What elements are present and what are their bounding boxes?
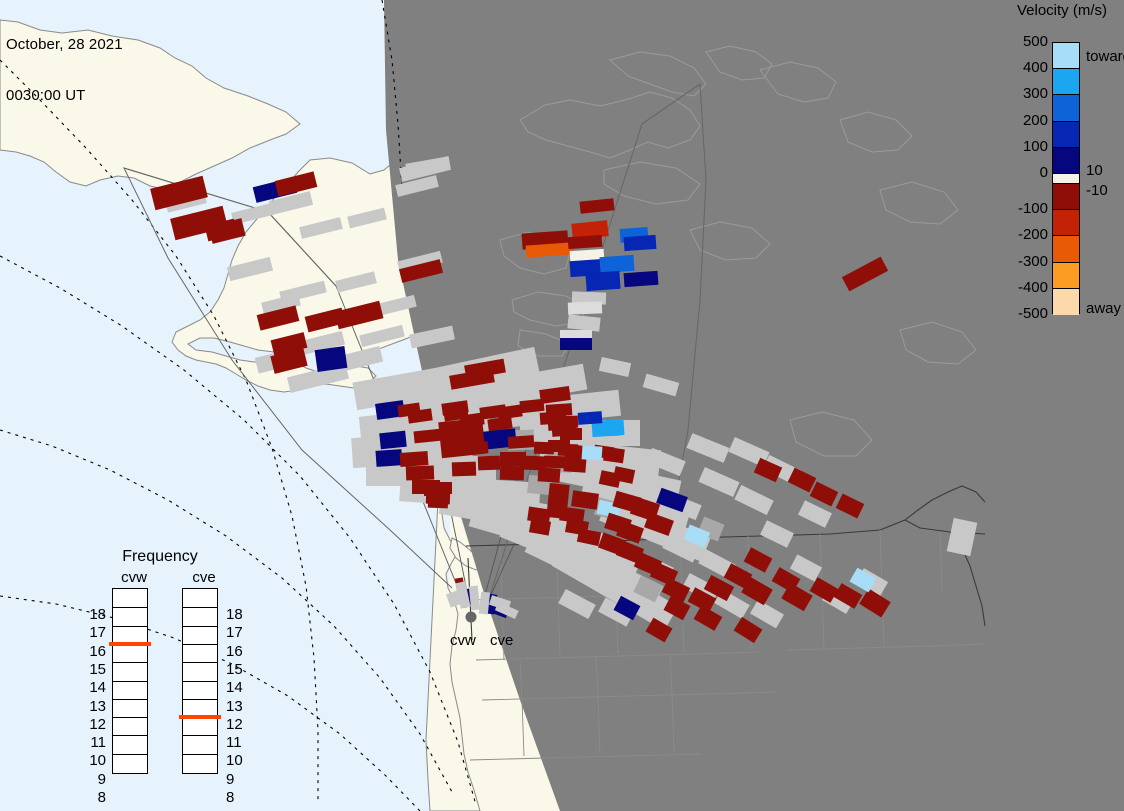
frequency-tick [113, 717, 147, 718]
frequency-axis-label: 15 [226, 661, 252, 678]
timestamp-block: October, 28 2021 0030:00 UT [6, 2, 123, 138]
colorbar-toward-label: toward [1086, 48, 1124, 65]
colorbar-segment [1053, 69, 1079, 95]
frequency-axis-label: 18 [80, 606, 106, 623]
frequency-axis-label: 13 [80, 698, 106, 715]
frequency-tick [183, 735, 217, 736]
frequency-bar-cvw [112, 588, 148, 774]
colorbar-tick-label: -400 [988, 279, 1048, 296]
frequency-column-label-cve: cve [182, 569, 226, 586]
frequency-tick [183, 626, 217, 627]
colorbar-tick-label: 200 [988, 112, 1048, 129]
frequency-bar-cve [182, 588, 218, 774]
frequency-tick [183, 662, 217, 663]
colorbar-positive-threshold: 10 [1086, 162, 1103, 179]
frequency-axis-label: 12 [226, 716, 252, 733]
colorbar-tick-label: 100 [988, 138, 1048, 155]
frequency-axis-label: 10 [226, 752, 252, 769]
frequency-marker-cvw [109, 642, 151, 646]
colorbar-segment [1053, 289, 1079, 315]
colorbar-segment [1053, 122, 1079, 148]
frequency-tick [113, 626, 147, 627]
frequency-column-label-cvw: cvw [112, 569, 156, 586]
colorbar-tick-label: 300 [988, 85, 1048, 102]
colorbar-segment [1053, 174, 1079, 184]
frequency-axis-label: 16 [80, 643, 106, 660]
frequency-axis-label: 9 [80, 771, 106, 788]
frequency-legend: Frequency cvw 18171615141312111098 cve 1… [85, 545, 250, 795]
frequency-tick [183, 754, 217, 755]
frequency-tick [183, 699, 217, 700]
colorbar-tick-label: -100 [988, 200, 1048, 217]
velocity-colorbar: Velocity (m/s) 5004003002001000-100-200-… [990, 0, 1124, 330]
frequency-axis-label: 18 [226, 606, 252, 623]
colorbar-segment [1053, 236, 1079, 262]
site-label-cve: cve [490, 632, 513, 649]
frequency-axis-label: 8 [226, 789, 252, 806]
frequency-tick [183, 681, 217, 682]
frequency-tick [113, 607, 147, 608]
frequency-axis-label: 14 [226, 679, 252, 696]
frequency-tick [113, 699, 147, 700]
radar-site-marker[interactable] [466, 612, 477, 623]
frequency-column-cvw: cvw 18171615141312111098 [112, 569, 156, 774]
timestamp-time: 0030:00 UT [6, 87, 123, 104]
frequency-axis-label: 11 [226, 734, 252, 751]
frequency-axis-label: 12 [80, 716, 106, 733]
frequency-marker-cve [179, 715, 221, 719]
colorbar-swatches [1052, 42, 1080, 314]
radar-map-screenshot: October, 28 2021 0030:00 UT cvw cve Velo… [0, 0, 1124, 811]
colorbar-tick-label: 0 [988, 164, 1048, 181]
frequency-axis-label: 10 [80, 752, 106, 769]
frequency-tick [113, 735, 147, 736]
colorbar-segment [1053, 148, 1079, 174]
frequency-tick [113, 681, 147, 682]
colorbar-segment [1053, 210, 1079, 236]
colorbar-segment [1053, 184, 1079, 210]
frequency-tick [183, 644, 217, 645]
colorbar-title: Velocity (m/s) [1000, 2, 1124, 19]
frequency-axis-label: 16 [226, 643, 252, 660]
frequency-legend-title: Frequency [85, 548, 235, 566]
frequency-axis-label: 11 [80, 734, 106, 751]
frequency-tick [113, 754, 147, 755]
colorbar-tick-label: 500 [988, 33, 1048, 50]
colorbar-segment [1053, 95, 1079, 121]
frequency-tick [183, 607, 217, 608]
colorbar-tick-label: -500 [988, 305, 1048, 322]
frequency-axis-label: 8 [80, 789, 106, 806]
frequency-axis-label: 15 [80, 661, 106, 678]
colorbar-segment [1053, 43, 1079, 69]
frequency-axis-label: 14 [80, 679, 106, 696]
colorbar-tick-label: -200 [988, 226, 1048, 243]
frequency-axis-label: 9 [226, 771, 252, 788]
colorbar-tick-label: -300 [988, 253, 1048, 270]
colorbar-segment [1053, 263, 1079, 289]
frequency-axis-label: 17 [80, 624, 106, 641]
frequency-column-cve: cve 18171615141312111098 [182, 569, 226, 774]
frequency-tick [113, 662, 147, 663]
colorbar-negative-threshold: -10 [1086, 182, 1108, 199]
colorbar-tick-label: 400 [988, 59, 1048, 76]
site-label-cvw: cvw [450, 632, 476, 649]
colorbar-away-label: away [1086, 300, 1121, 317]
frequency-axis-label: 17 [226, 624, 252, 641]
timestamp-date: October, 28 2021 [6, 36, 123, 53]
frequency-axis-label: 13 [226, 698, 252, 715]
